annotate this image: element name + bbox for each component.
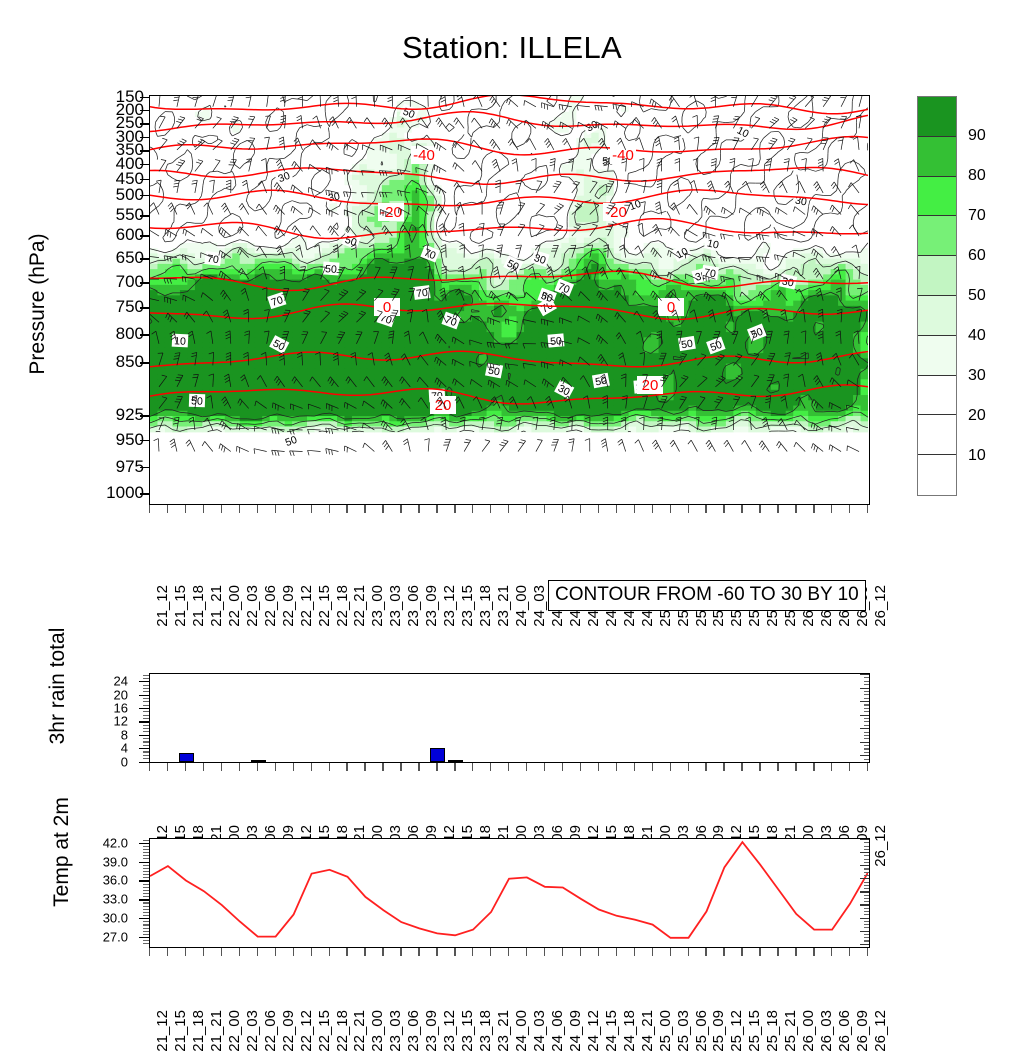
x-label: 22_12: [298, 1010, 315, 1052]
pressure-axis-ticks: [140, 95, 149, 505]
right-axis-tick: [864, 908, 869, 909]
right-axis-tick: [860, 931, 869, 932]
x-tick: [795, 505, 796, 513]
x-tick: [346, 505, 347, 513]
x-tick: [616, 505, 617, 513]
x-tick: [670, 948, 671, 956]
x-tick: [723, 763, 724, 771]
x-tick: [203, 763, 204, 771]
pressure-tick: [140, 467, 149, 468]
rain-y-label: 8: [121, 727, 128, 742]
right-axis-tick: [864, 677, 869, 678]
x-label: 25_09: [710, 1010, 727, 1052]
x-tick: [813, 763, 814, 771]
temp-y-label: 36.0: [103, 873, 128, 888]
sounding-svg: 7050707030503070705030705050305070103050…: [150, 96, 868, 503]
x-tick: [293, 948, 294, 956]
right-axis-tick: [864, 898, 869, 899]
x-tick: [275, 505, 276, 513]
x-tick: [544, 948, 545, 956]
x-label: 22_03: [244, 1010, 261, 1052]
contour-note: CONTOUR FROM -60 TO 30 BY 10: [548, 580, 866, 611]
colorbar-label: 40: [968, 327, 986, 345]
x-tick: [221, 948, 222, 956]
x-tick: [867, 763, 868, 771]
x-tick: [777, 763, 778, 771]
x-tick: [634, 505, 635, 513]
x-tick: [490, 763, 491, 771]
sounding-plot-area[interactable]: 7050707030503070705030705050305070103050…: [149, 95, 870, 505]
x-tick: [526, 505, 527, 513]
right-axis-tick: [864, 708, 869, 709]
x-label: 22_09: [280, 1010, 297, 1052]
right-axis-tick: [864, 704, 869, 705]
temp-x-ticks: [149, 948, 870, 958]
x-tick: [472, 505, 473, 513]
x-label: 26_06: [836, 1010, 853, 1052]
colorbar-label: 30: [968, 367, 986, 385]
right-axis-tick: [864, 927, 869, 928]
x-tick: [436, 505, 437, 513]
x-label: 23_18: [477, 585, 494, 627]
x-tick: [616, 948, 617, 956]
right-axis-tick: [860, 944, 869, 945]
pressure-tick: [140, 137, 149, 138]
x-label: 24_03: [531, 585, 548, 627]
pressure-label: 1000: [106, 483, 144, 503]
right-axis-tick: [864, 698, 869, 699]
right-axis-tick: [864, 718, 869, 719]
colorbar-label: 20: [968, 407, 986, 425]
x-tick: [167, 763, 168, 771]
right-axis-tick: [860, 918, 869, 919]
pressure-tick: [140, 258, 149, 259]
x-tick: [149, 505, 150, 513]
x-tick: [759, 948, 760, 956]
right-axis-tick: [864, 934, 869, 935]
x-label: 21_21: [208, 1010, 225, 1052]
rain-y-label: 24: [114, 674, 128, 689]
x-label: 24_09: [567, 1010, 584, 1052]
x-tick: [382, 763, 383, 771]
x-tick: [670, 505, 671, 513]
right-axis-tick: [860, 715, 869, 716]
x-label: 22_06: [262, 585, 279, 627]
rain-y-ticks: [132, 673, 149, 763]
x-tick: [688, 948, 689, 956]
temp-y-tick: [139, 880, 149, 881]
x-tick: [275, 763, 276, 771]
x-label: 22_18: [334, 1010, 351, 1052]
rain-y-tick: [139, 735, 149, 736]
x-tick: [329, 948, 330, 956]
temp-y-ticks: [132, 838, 149, 948]
pressure-tick: [140, 97, 149, 98]
x-tick: [346, 763, 347, 771]
colorbar-band: [918, 376, 956, 416]
x-tick: [293, 763, 294, 771]
colorbar-band: [918, 97, 956, 137]
x-label: 22_09: [280, 585, 297, 627]
x-tick: [723, 948, 724, 956]
right-axis-tick: [864, 859, 869, 860]
rain-y-tick: [139, 721, 149, 722]
x-tick: [454, 505, 455, 513]
right-axis-tick: [864, 711, 869, 712]
right-axis-tick: [860, 755, 869, 756]
x-label: 22_21: [351, 585, 368, 627]
x-tick: [705, 763, 706, 771]
pressure-tick: [140, 195, 149, 196]
x-tick: [652, 948, 653, 956]
x-label: 22_18: [334, 585, 351, 627]
x-label: 26_00: [800, 1010, 817, 1052]
x-label: 22_12: [298, 585, 315, 627]
pressure-axis-labels: 1502002503003504004505005506006507007508…: [60, 95, 144, 505]
x-label: 22_00: [226, 1010, 243, 1052]
right-axis-tick: [864, 868, 869, 869]
x-tick: [652, 505, 653, 513]
x-tick: [293, 505, 294, 513]
right-axis-tick: [864, 732, 869, 733]
rain-y-labels: 04812162024: [88, 673, 128, 763]
x-label: 21_18: [190, 1010, 207, 1052]
right-axis-tick: [864, 842, 869, 843]
x-label: 21_15: [172, 585, 189, 627]
x-tick: [705, 505, 706, 513]
x-label: 22_15: [316, 585, 333, 627]
x-label: 21_12: [154, 1010, 171, 1052]
x-label: 24_18: [621, 1010, 638, 1052]
rain-y-tick: [139, 762, 149, 763]
x-tick: [364, 948, 365, 956]
x-tick: [580, 505, 581, 513]
colorbar-band: [918, 137, 956, 177]
x-tick: [652, 763, 653, 771]
colorbar-label: 10: [968, 447, 986, 465]
x-label: 23_09: [423, 1010, 440, 1052]
rain-plot-area[interactable]: [149, 673, 870, 763]
rain-y-label: 0: [121, 754, 128, 769]
right-axis-tick: [864, 875, 869, 876]
pressure-tick: [140, 179, 149, 180]
x-tick: [813, 505, 814, 513]
right-axis-tick: [860, 878, 869, 879]
rain-y-label: 20: [114, 687, 128, 702]
x-tick: [185, 948, 186, 956]
temperature-line: [150, 842, 868, 938]
right-axis-tick: [864, 752, 869, 753]
x-tick: [472, 948, 473, 956]
x-label: 23_06: [405, 585, 422, 627]
x-label: 24_06: [549, 1010, 566, 1052]
x-tick: [257, 505, 258, 513]
temp-y-tick: [139, 862, 149, 863]
x-label: 21_12: [154, 585, 171, 627]
pressure-tick: [140, 415, 149, 416]
x-tick: [580, 948, 581, 956]
temp-plot-area[interactable]: [149, 838, 870, 948]
pressure-tick: [140, 215, 149, 216]
x-tick: [203, 505, 204, 513]
x-tick: [634, 948, 635, 956]
x-label: 24_00: [513, 585, 530, 627]
pressure-tick: [140, 362, 149, 363]
colorbar-band: [918, 455, 956, 495]
x-tick: [418, 505, 419, 513]
rain-y-tick: [139, 748, 149, 749]
x-label: 23_03: [387, 1010, 404, 1052]
temp-y-tick: [139, 937, 149, 938]
x-label: 22_21: [351, 1010, 368, 1052]
x-label: 23_00: [369, 585, 386, 627]
temp-y-labels: 27.030.033.036.039.042.0: [82, 838, 128, 948]
x-tick: [634, 763, 635, 771]
x-tick: [221, 763, 222, 771]
x-tick: [705, 948, 706, 956]
x-tick: [598, 948, 599, 956]
x-label: 26_12: [872, 585, 889, 627]
pressure-tick: [140, 164, 149, 165]
x-tick: [454, 763, 455, 771]
x-tick: [526, 948, 527, 956]
x-tick: [185, 505, 186, 513]
colorbar-band: [918, 216, 956, 256]
x-tick: [221, 505, 222, 513]
temp-y-tick: [139, 918, 149, 919]
x-tick: [257, 948, 258, 956]
x-tick: [562, 948, 563, 956]
right-axis-tick: [864, 914, 869, 915]
x-tick: [508, 505, 509, 513]
colorbar-label: 60: [968, 247, 986, 265]
right-axis-tick: [860, 904, 869, 905]
x-tick: [849, 763, 850, 771]
colorbar-band: [918, 415, 956, 455]
x-label: 25_15: [746, 1010, 763, 1052]
colorbar-label: 70: [968, 207, 986, 225]
x-tick: [364, 763, 365, 771]
right-axis-tick: [860, 701, 869, 702]
x-tick: [329, 505, 330, 513]
pressure-tick: [140, 493, 149, 494]
right-axis-tick: [864, 885, 869, 886]
x-tick: [849, 948, 850, 956]
x-tick: [759, 505, 760, 513]
x-tick: [239, 948, 240, 956]
x-label: 24_21: [639, 1010, 656, 1052]
x-tick: [400, 948, 401, 956]
x-tick: [759, 763, 760, 771]
x-tick: [508, 948, 509, 956]
rain-bar: [251, 760, 266, 762]
right-axis-tick: [864, 684, 869, 685]
x-tick: [741, 948, 742, 956]
x-label: 26_12: [872, 825, 889, 867]
right-axis-tick: [864, 725, 869, 726]
right-axis-tick: [864, 721, 869, 722]
right-axis-tick: [860, 865, 869, 866]
x-tick: [849, 505, 850, 513]
x-tick: [203, 948, 204, 956]
x-label: 23_15: [459, 1010, 476, 1052]
right-axis-tick: [864, 735, 869, 736]
x-tick: [741, 763, 742, 771]
pressure-tick: [140, 334, 149, 335]
x-label: 24_00: [513, 1010, 530, 1052]
x-label: 25_12: [728, 1010, 745, 1052]
x-tick: [831, 948, 832, 956]
x-label: 25_18: [764, 1010, 781, 1052]
x-label: 23_12: [441, 585, 458, 627]
page-title: Station: ILLELA: [0, 30, 1024, 66]
colorbar-label: 80: [968, 167, 986, 185]
colorbar-band: [918, 336, 956, 376]
x-label: 23_15: [459, 585, 476, 627]
temp-axis-title: Temp at 2m: [50, 742, 74, 962]
x-label: 25_21: [782, 1010, 799, 1052]
colorbar-band: [918, 177, 956, 217]
x-tick: [400, 505, 401, 513]
rain-x-ticks: [149, 763, 870, 773]
x-label: 24_15: [603, 1010, 620, 1052]
x-tick: [670, 763, 671, 771]
x-label: 25_06: [693, 1010, 710, 1052]
right-axis-tick: [860, 891, 869, 892]
x-tick: [562, 505, 563, 513]
x-tick: [382, 948, 383, 956]
temp-y-tick: [139, 899, 149, 900]
right-axis-tick: [860, 742, 869, 743]
x-label: 22_06: [262, 1010, 279, 1052]
colorbar-band: [918, 296, 956, 336]
x-tick: [167, 948, 168, 956]
rain-y-tick: [139, 708, 149, 709]
x-tick: [436, 948, 437, 956]
x-tick: [813, 948, 814, 956]
x-tick: [167, 505, 168, 513]
x-tick: [831, 505, 832, 513]
rain-y-label: 4: [121, 741, 128, 756]
x-tick: [149, 948, 150, 956]
x-tick: [544, 505, 545, 513]
x-tick: [688, 763, 689, 771]
x-tick: [598, 763, 599, 771]
x-label: 23_21: [495, 585, 512, 627]
x-tick: [311, 948, 312, 956]
x-tick: [239, 505, 240, 513]
pressure-tick: [140, 110, 149, 111]
x-label: 21_21: [208, 585, 225, 627]
x-tick: [472, 763, 473, 771]
rain-bar: [448, 760, 463, 762]
x-tick: [185, 763, 186, 771]
temp-y-label: 27.0: [103, 930, 128, 945]
x-tick: [275, 948, 276, 956]
right-axis-tick: [864, 681, 869, 682]
x-label: 25_03: [675, 1010, 692, 1052]
x-tick: [580, 763, 581, 771]
x-label: 21_15: [172, 1010, 189, 1052]
right-axis-tick: [864, 862, 869, 863]
x-tick: [346, 948, 347, 956]
x-tick: [364, 505, 365, 513]
right-axis-tick: [864, 895, 869, 896]
pressure-tick: [140, 123, 149, 124]
x-tick: [777, 948, 778, 956]
right-axis-tick: [864, 691, 869, 692]
x-label: 26_12: [872, 1010, 889, 1052]
right-axis-tick: [864, 901, 869, 902]
colorbar-band: [918, 256, 956, 296]
right-axis-tick: [864, 924, 869, 925]
x-label: 23_00: [369, 1010, 386, 1052]
right-axis-tick: [864, 911, 869, 912]
x-tick: [867, 948, 868, 956]
x-tick: [562, 763, 563, 771]
x-label: 23_12: [441, 1010, 458, 1052]
x-label: 25_00: [657, 1010, 674, 1052]
right-axis-tick: [864, 855, 869, 856]
temp-y-label: 39.0: [103, 854, 128, 869]
right-axis-tick: [860, 688, 869, 689]
x-label: 26_03: [818, 1010, 835, 1052]
x-tick: [526, 763, 527, 771]
temp-y-tick: [139, 843, 149, 844]
x-tick: [418, 763, 419, 771]
x-tick: [400, 763, 401, 771]
x-tick: [741, 505, 742, 513]
rain-y-label: 12: [114, 714, 128, 729]
x-tick: [867, 505, 868, 513]
x-tick: [508, 763, 509, 771]
x-tick: [382, 505, 383, 513]
right-axis-tick: [860, 728, 869, 729]
rain-y-tick: [139, 681, 149, 682]
right-axis-tick: [864, 748, 869, 749]
x-label: 22_15: [316, 1010, 333, 1052]
x-tick: [436, 763, 437, 771]
x-tick: [688, 505, 689, 513]
temp-y-label: 30.0: [103, 911, 128, 926]
x-label: 23_09: [423, 585, 440, 627]
x-label: 23_06: [405, 1010, 422, 1052]
x-label: 23_21: [495, 1010, 512, 1052]
right-axis-tick: [864, 921, 869, 922]
x-tick: [329, 763, 330, 771]
right-axis-tick: [860, 839, 869, 840]
rain-bar: [430, 748, 445, 762]
weather-sounding-figure: Station: ILLELA Pressure (hPa) 150200250…: [0, 0, 1024, 1024]
x-tick: [454, 948, 455, 956]
x-tick: [490, 505, 491, 513]
x-label: 22_00: [226, 585, 243, 627]
temp-line-svg: [150, 839, 868, 946]
right-axis-tick: [864, 937, 869, 938]
x-tick: [149, 763, 150, 771]
x-tick: [311, 505, 312, 513]
right-axis-tick: [864, 759, 869, 760]
x-label: 22_03: [244, 585, 261, 627]
pressure-tick: [140, 282, 149, 283]
right-axis-tick: [864, 872, 869, 873]
pressure-tick: [140, 307, 149, 308]
x-label: 21_18: [190, 585, 207, 627]
right-axis-tick: [864, 888, 869, 889]
right-axis-tick: [860, 674, 869, 675]
colorbar-label: 90: [968, 127, 986, 145]
temp-y-label: 42.0: [103, 835, 128, 850]
